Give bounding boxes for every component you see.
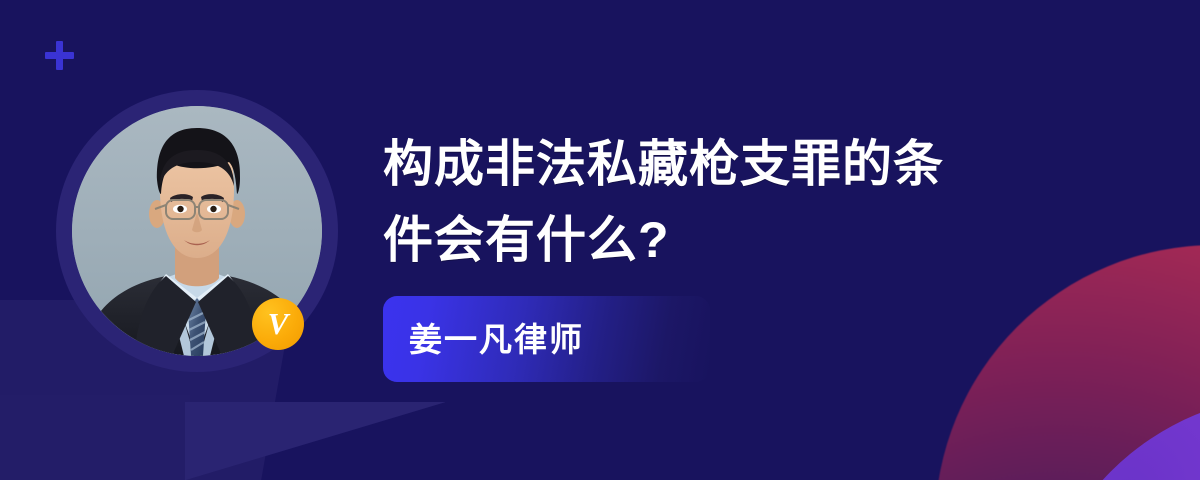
plus-icon — [45, 41, 74, 70]
page-title: 构成非法私藏枪支罪的条 件会有什么? — [383, 126, 1083, 278]
triangle-accent-shape — [185, 402, 445, 480]
verified-badge-glyph: V — [268, 308, 289, 339]
verified-badge-icon: V — [252, 298, 304, 350]
lawyer-qa-banner: V 构成非法私藏枪支罪的条 件会有什么? 姜一凡律师 — [0, 0, 1200, 480]
lawyer-name-badge[interactable]: 姜一凡律师 — [383, 296, 710, 382]
title-line-2: 件会有什么? — [383, 202, 1083, 278]
title-line-1: 构成非法私藏枪支罪的条 — [383, 126, 1083, 202]
lawyer-name-label: 姜一凡律师 — [409, 323, 584, 356]
avatar: V — [56, 90, 338, 372]
